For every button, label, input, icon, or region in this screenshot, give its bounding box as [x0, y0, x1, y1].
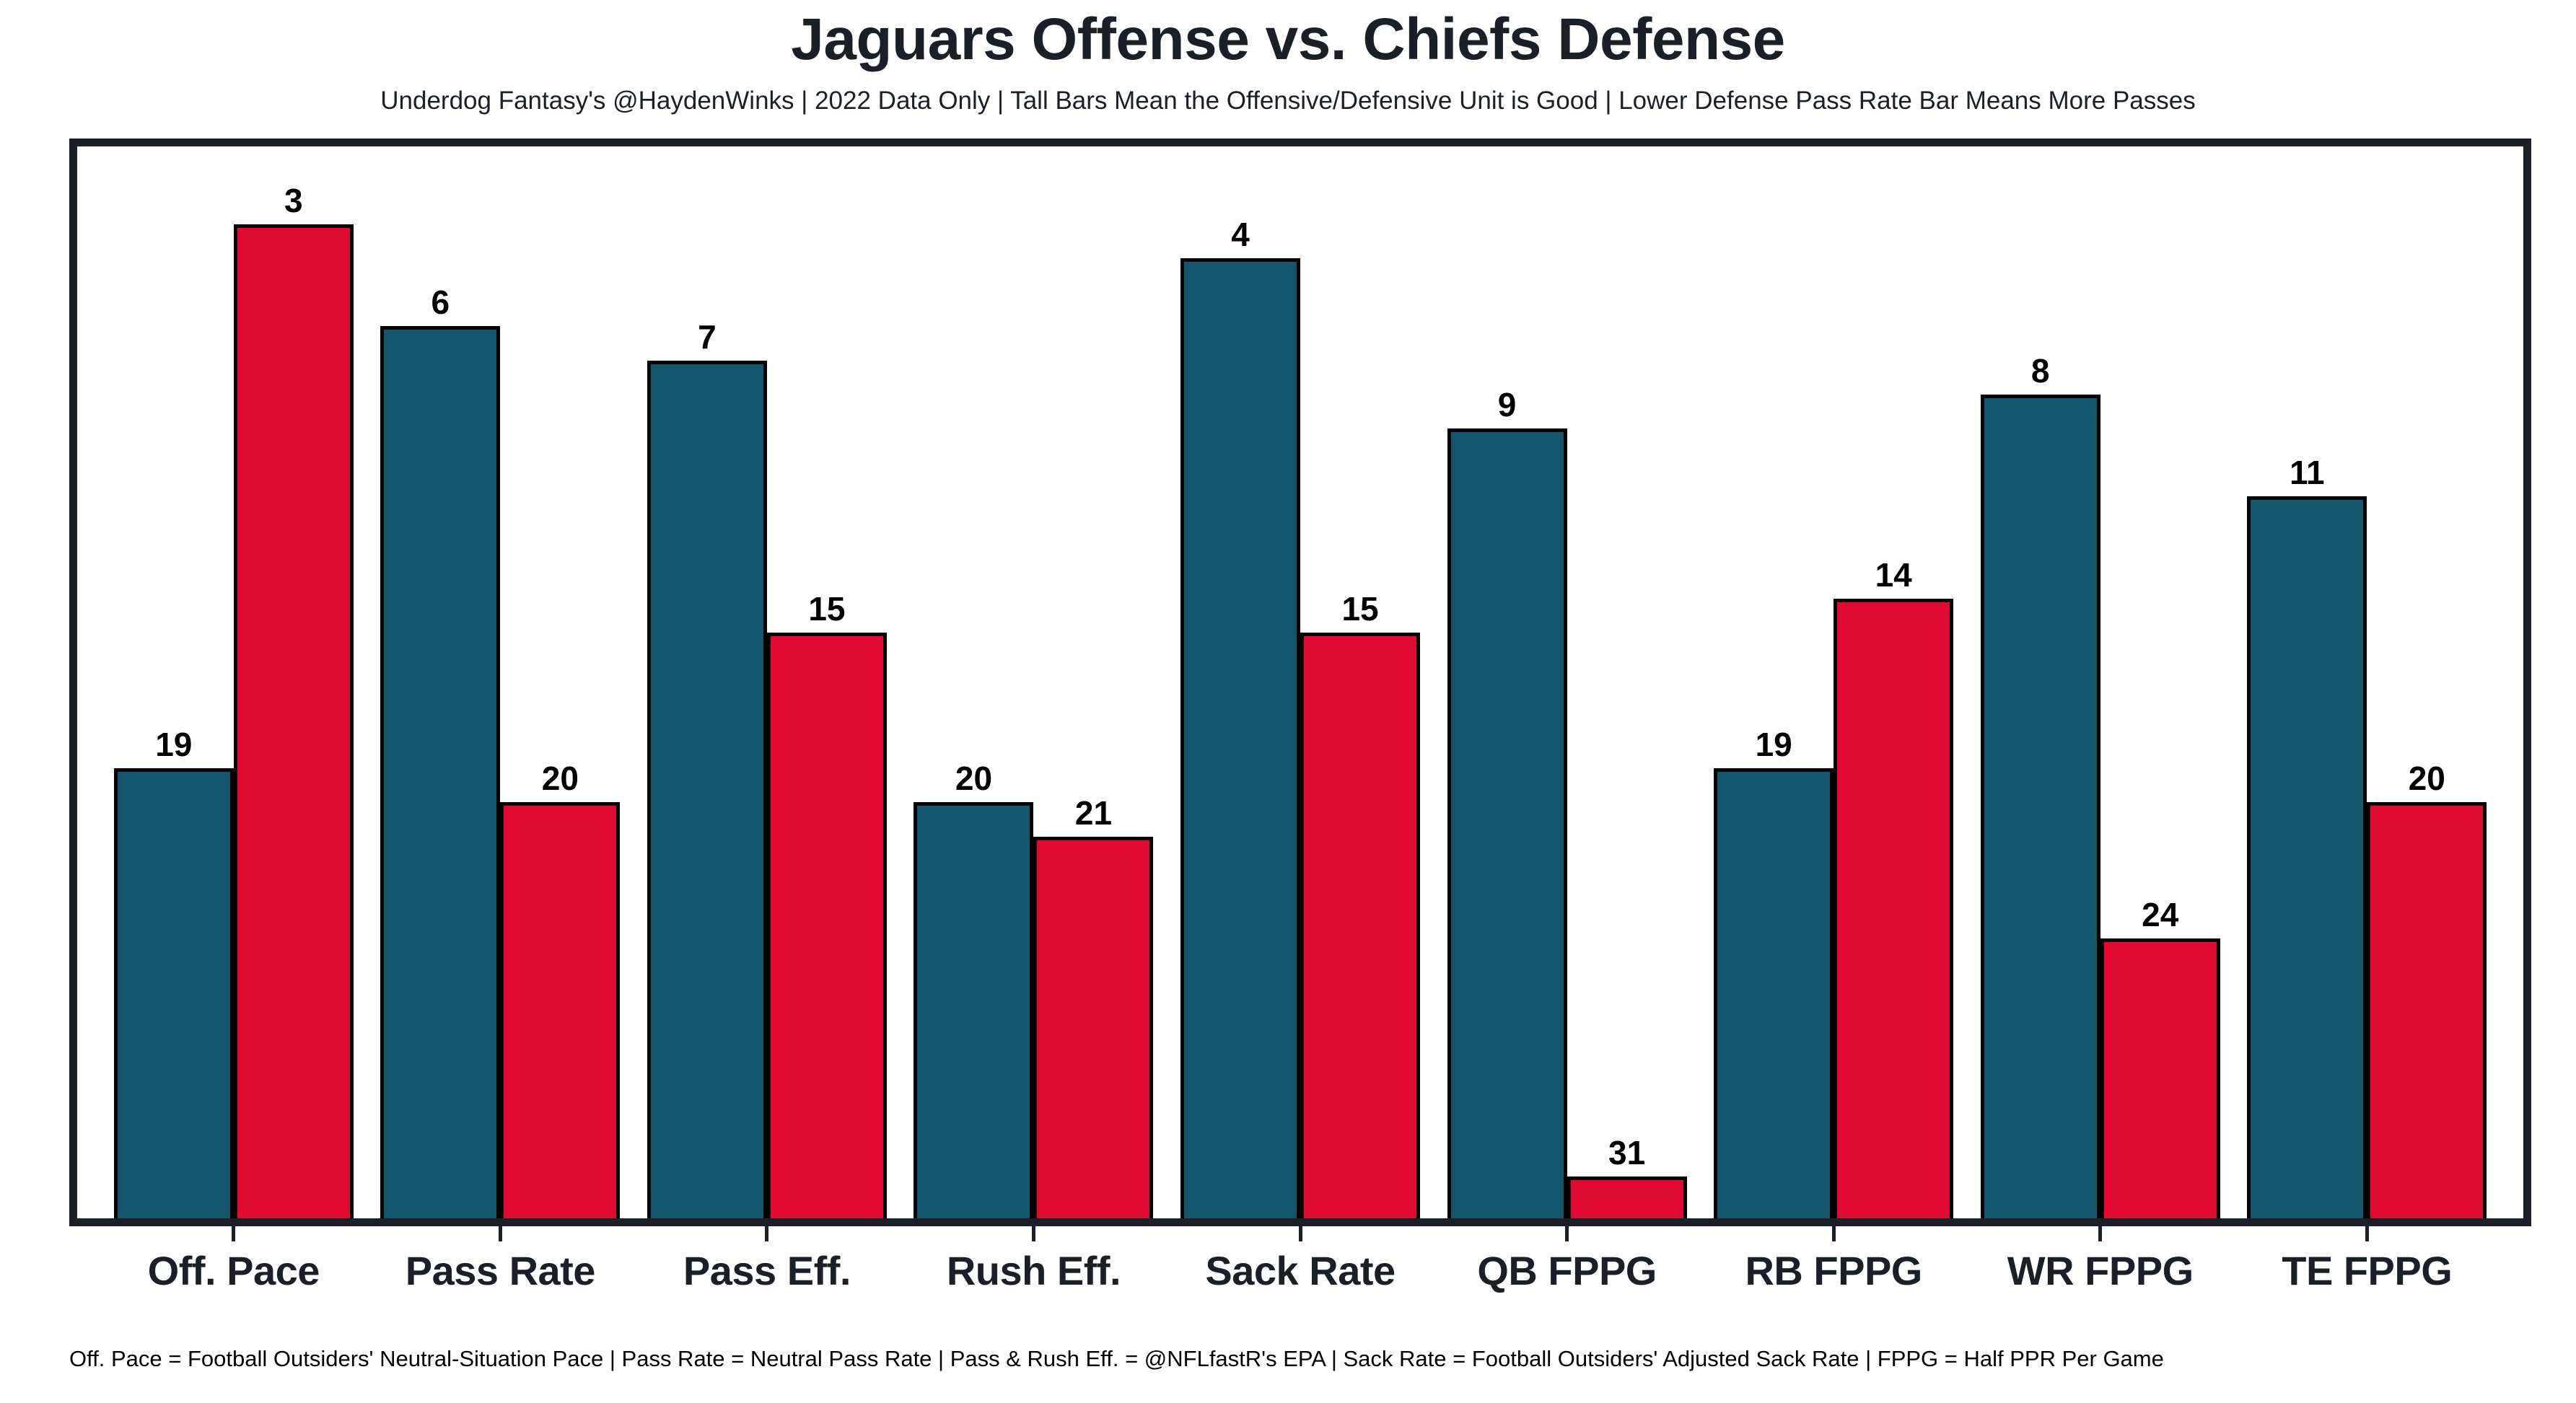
x-tick-group: Pass Eff. — [634, 1226, 901, 1313]
bar-value-label: 7 — [647, 320, 767, 353]
defense-bar[interactable] — [500, 802, 620, 1218]
x-axis-tick — [765, 1226, 768, 1241]
chart-footnote: Off. Pace = Football Outsiders' Neutral-… — [69, 1346, 2531, 1372]
bar-wrapper: 24 — [2100, 146, 2220, 1218]
bar-wrapper: 6 — [380, 146, 500, 1218]
bar-wrapper: 20 — [914, 146, 1033, 1218]
x-tick-group: QB FPPG — [1434, 1226, 1701, 1313]
offense-bar[interactable] — [1180, 258, 1300, 1218]
x-tick-group: Pass Rate — [367, 1226, 634, 1313]
offense-bar[interactable] — [1714, 768, 1834, 1218]
defense-bar[interactable] — [1033, 837, 1153, 1218]
defense-bar[interactable] — [1834, 599, 1953, 1218]
x-axis: Off. PacePass RatePass Eff.Rush Eff.Sack… — [77, 1226, 2523, 1313]
x-axis-tick — [1832, 1226, 1836, 1241]
bar-wrapper: 9 — [1447, 146, 1567, 1218]
x-axis-tick — [232, 1226, 235, 1241]
chart-page: Jaguars Offense vs. Chiefs Defense Under… — [0, 0, 2576, 1403]
x-axis-tick — [1565, 1226, 1569, 1241]
x-tick-group: Rush Eff. — [901, 1226, 1167, 1313]
x-axis-label: WR FPPG — [2007, 1247, 2194, 1294]
bar-wrapper: 14 — [1834, 146, 1953, 1218]
chart-subtitle: Underdog Fantasy's @HaydenWinks | 2022 D… — [0, 87, 2576, 115]
bar-wrapper: 20 — [2367, 146, 2487, 1218]
x-axis-label: Pass Eff. — [683, 1247, 851, 1294]
defense-bar[interactable] — [2100, 938, 2220, 1218]
bar-value-label: 15 — [1300, 592, 1420, 625]
bar-group-sack-rate: 415 — [1167, 146, 1434, 1218]
bar-wrapper: 4 — [1180, 146, 1300, 1218]
offense-bar[interactable] — [380, 326, 500, 1218]
x-tick-group: RB FPPG — [1700, 1226, 1967, 1313]
bar-value-label: 31 — [1567, 1136, 1687, 1169]
bar-group-off-pace: 193 — [100, 146, 367, 1218]
x-axis-label: Rush Eff. — [947, 1247, 1121, 1294]
bar-wrapper: 7 — [647, 146, 767, 1218]
offense-bar[interactable] — [647, 361, 767, 1218]
bar-wrapper: 20 — [500, 146, 620, 1218]
bar-wrapper: 31 — [1567, 146, 1687, 1218]
bar-value-label: 15 — [767, 592, 887, 625]
offense-bar[interactable] — [1447, 428, 1567, 1218]
x-tick-group: TE FPPG — [2234, 1226, 2501, 1313]
x-axis-label: Sack Rate — [1205, 1247, 1395, 1294]
x-axis-label: QB FPPG — [1477, 1247, 1657, 1294]
bar-value-label: 21 — [1033, 796, 1153, 830]
bar-group-qb-fppg: 931 — [1434, 146, 1701, 1218]
bar-value-label: 6 — [380, 286, 500, 319]
defense-bar[interactable] — [2367, 802, 2487, 1218]
bar-group-rb-fppg: 1914 — [1700, 146, 1967, 1218]
bar-wrapper: 19 — [114, 146, 234, 1218]
x-tick-group: WR FPPG — [1967, 1226, 2234, 1313]
defense-bar[interactable] — [234, 224, 354, 1218]
offense-bar[interactable] — [1981, 395, 2100, 1218]
bar-value-label: 11 — [2247, 456, 2367, 489]
bar-wrapper: 11 — [2247, 146, 2367, 1218]
bar-value-label: 14 — [1834, 558, 1953, 591]
bar-value-label: 4 — [1180, 218, 1300, 251]
x-axis-label: RB FPPG — [1745, 1247, 1922, 1294]
x-axis-tick — [1299, 1226, 1302, 1241]
bar-wrapper: 21 — [1033, 146, 1153, 1218]
bar-wrapper: 15 — [767, 146, 887, 1218]
defense-bar[interactable] — [1567, 1177, 1687, 1218]
x-tick-group: Off. Pace — [100, 1226, 367, 1313]
bar-value-label: 20 — [914, 762, 1033, 795]
bar-value-label: 8 — [1981, 354, 2100, 387]
bar-value-label: 24 — [2100, 898, 2220, 931]
bar-group-rush-eff: 2021 — [901, 146, 1167, 1218]
bar-value-label: 19 — [114, 728, 234, 761]
bar-group-te-fppg: 1120 — [2234, 146, 2501, 1218]
bar-wrapper: 15 — [1300, 146, 1420, 1218]
x-axis-tick — [499, 1226, 502, 1241]
defense-bar[interactable] — [767, 633, 887, 1218]
x-axis-label: Pass Rate — [406, 1247, 595, 1294]
bar-group-wr-fppg: 824 — [1967, 146, 2234, 1218]
bar-value-label: 9 — [1447, 388, 1567, 421]
defense-bar[interactable] — [1300, 633, 1420, 1218]
bar-value-label: 3 — [234, 184, 354, 217]
bar-wrapper: 19 — [1714, 146, 1834, 1218]
x-axis-tick — [2365, 1226, 2369, 1241]
bar-group-pass-eff: 715 — [634, 146, 901, 1218]
offense-bar[interactable] — [114, 768, 234, 1218]
bar-value-label: 20 — [500, 762, 620, 795]
bar-groups: 193620715202141593119148241120 — [77, 146, 2523, 1218]
chart-title: Jaguars Offense vs. Chiefs Defense — [0, 6, 2576, 74]
offense-bar[interactable] — [914, 802, 1033, 1218]
bar-wrapper: 3 — [234, 146, 354, 1218]
bar-value-label: 19 — [1714, 728, 1834, 761]
bar-group-pass-rate: 620 — [367, 146, 634, 1218]
x-tick-group: Sack Rate — [1167, 1226, 1434, 1313]
bar-wrapper: 8 — [1981, 146, 2100, 1218]
offense-bar[interactable] — [2247, 496, 2367, 1218]
x-axis-label: Off. Pace — [148, 1247, 320, 1294]
x-axis-tick — [1032, 1226, 1035, 1241]
x-axis-label: TE FPPG — [2282, 1247, 2452, 1294]
x-axis-tick — [2098, 1226, 2102, 1241]
bar-value-label: 20 — [2367, 762, 2487, 795]
